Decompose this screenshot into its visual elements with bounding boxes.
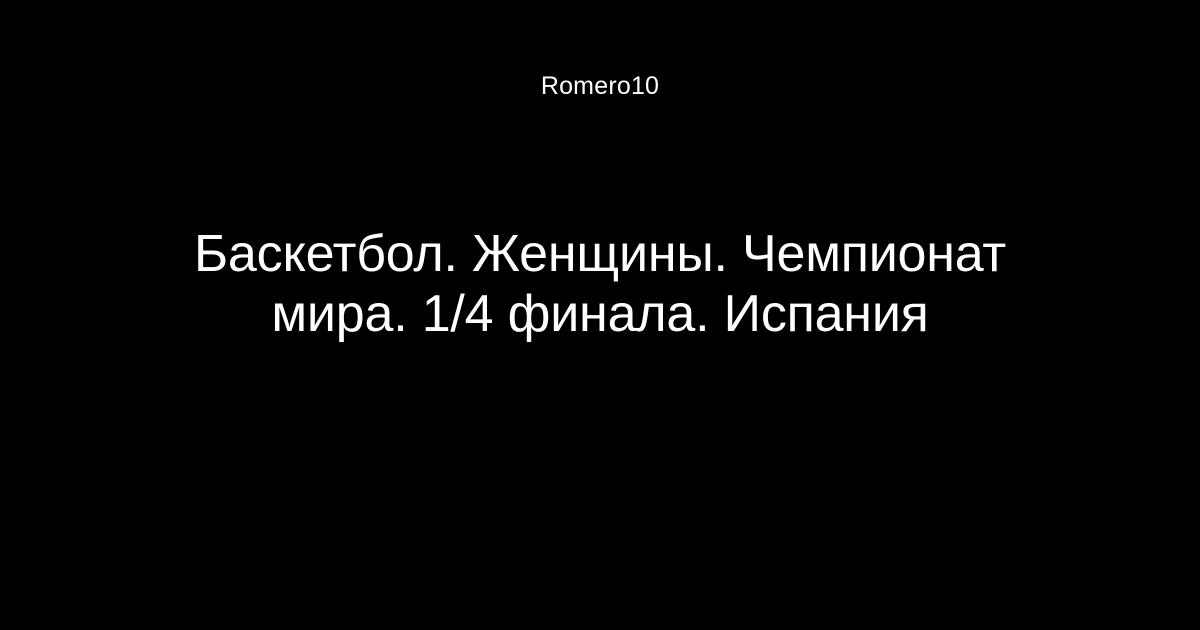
social-share-card: Romero10 Баскетбол. Женщины. Чемпионат м…	[0, 0, 1200, 630]
headline-container: Баскетбол. Женщины. Чемпионат мира. 1/4 …	[0, 224, 1200, 344]
site-name: Romero10	[0, 70, 1200, 102]
page-title: Баскетбол. Женщины. Чемпионат мира. 1/4 …	[140, 224, 1060, 344]
